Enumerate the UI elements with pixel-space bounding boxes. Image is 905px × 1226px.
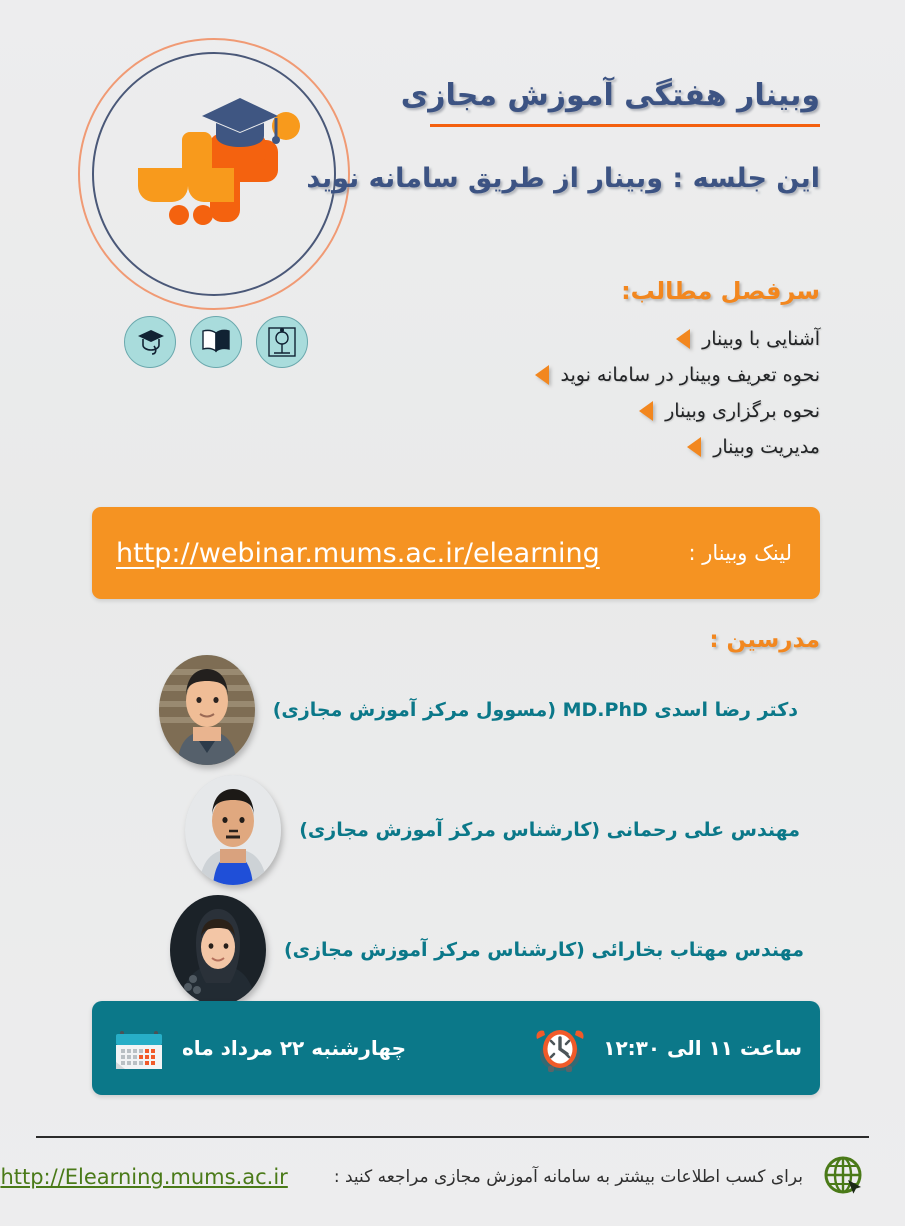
footer-url[interactable]: http://Elearning.mums.ac.ir <box>0 1165 287 1189</box>
badge-university-emblem <box>256 316 308 368</box>
chevron-left-icon <box>533 365 549 385</box>
schedule-bar: ساعت ۱۱ الی ۱۲:۳۰ چهارشنبه ۲۲ مرداد ماه <box>92 1001 820 1095</box>
list-item: دکتر رضا اسدی MD.PhD (مسوول مرکز آموزش م… <box>92 650 820 770</box>
topics-list: آشنایی با وبینار نحوه تعریف وبینار در سا… <box>533 325 820 461</box>
topic-label: نحوه تعریف وبینار در سامانه نوید <box>561 364 820 386</box>
page-subtitle: این جلسه : وبینار از طریق سامانه نوید <box>306 163 820 194</box>
chevron-left-icon <box>674 329 690 349</box>
footer-divider <box>36 1136 869 1138</box>
instructor-name: دکتر رضا اسدی MD.PhD (مسوول مرکز آموزش م… <box>273 699 798 721</box>
webinar-link-bar: لینک وبینار : http://webinar.mums.ac.ir/… <box>92 507 820 599</box>
logo-artwork <box>118 82 314 252</box>
alarm-clock-icon <box>531 1019 589 1077</box>
calendar-icon <box>110 1019 168 1077</box>
avatar <box>170 895 266 1005</box>
badge-open-book-emblem <box>190 316 242 368</box>
list-item: مدیریت وبینار <box>533 433 820 461</box>
webinar-poster: وبینار هفتگی آموزش مجازی این جلسه : وبین… <box>0 0 905 1226</box>
title-underline <box>430 124 820 127</box>
list-item: نحوه برگزاری وبینار <box>533 397 820 425</box>
page-title: وبینار هفتگی آموزش مجازی <box>401 78 820 113</box>
list-item: مهندس علی رحمانی (کارشناس مرکز آموزش مجا… <box>92 770 820 890</box>
instructor-name: مهندس علی رحمانی (کارشناس مرکز آموزش مجا… <box>299 819 800 841</box>
avatar <box>159 655 255 765</box>
date-group: چهارشنبه ۲۲ مرداد ماه <box>110 1019 406 1077</box>
globe-cursor-icon <box>821 1153 869 1201</box>
topics-heading: سرفصل مطالب: <box>621 277 820 305</box>
topic-label: مدیریت وبینار <box>713 436 820 458</box>
chevron-left-icon <box>637 401 653 421</box>
footer-text: برای کسب اطلاعات بیشتر به سامانه آموزش م… <box>334 1167 803 1187</box>
list-item: آشنایی با وبینار <box>533 325 820 353</box>
topic-label: آشنایی با وبینار <box>702 328 820 350</box>
time-group: ساعت ۱۱ الی ۱۲:۳۰ <box>531 1019 802 1077</box>
list-item: مهندس مهتاب بخارائی (کارشناس مرکز آموزش … <box>92 890 820 1010</box>
list-item: نحوه تعریف وبینار در سامانه نوید <box>533 361 820 389</box>
chevron-left-icon <box>685 437 701 457</box>
webinar-link-label: لینک وبینار : <box>689 541 793 565</box>
badge-graduation-cap-emblem <box>124 316 176 368</box>
date-text: چهارشنبه ۲۲ مرداد ماه <box>182 1036 406 1060</box>
webinar-link-url[interactable]: http://webinar.mums.ac.ir/elearning <box>116 538 600 569</box>
avatar <box>185 775 281 885</box>
topic-label: نحوه برگزاری وبینار <box>665 400 820 422</box>
footer: برای کسب اطلاعات بیشتر به سامانه آموزش م… <box>36 1146 869 1208</box>
accreditation-badges <box>124 316 308 368</box>
instructor-name: مهندس مهتاب بخارائی (کارشناس مرکز آموزش … <box>284 939 804 961</box>
time-text: ساعت ۱۱ الی ۱۲:۳۰ <box>603 1036 802 1060</box>
instructors-list: دکتر رضا اسدی MD.PhD (مسوول مرکز آموزش م… <box>92 650 820 1010</box>
